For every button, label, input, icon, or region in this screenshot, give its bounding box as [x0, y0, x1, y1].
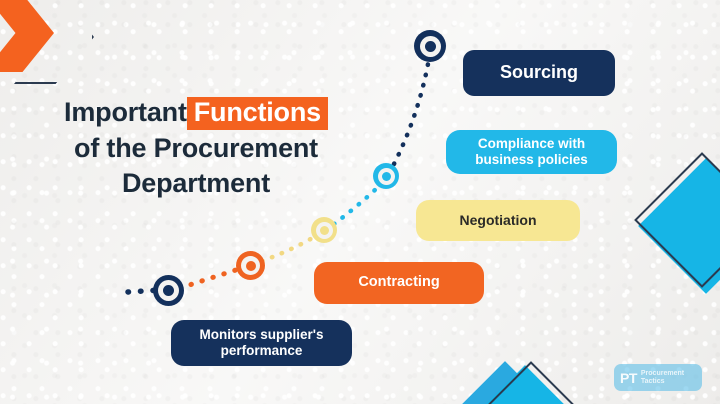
path-segment-navy-rise — [394, 64, 428, 164]
step-label-text: Negotiation — [460, 212, 537, 229]
marker-sourcing — [414, 30, 446, 62]
brand-logo: PT Procurement Tactics — [614, 364, 702, 391]
marker-negotiation — [311, 217, 337, 243]
path-segment-yellow — [262, 237, 314, 261]
page-title: ImportantFunctions of the Procurement De… — [36, 95, 356, 202]
logo-word-2: Tactics — [641, 378, 684, 385]
marker-contracting — [236, 251, 265, 280]
logo-word-1: Procurement — [641, 370, 684, 377]
step-label-line-2: performance — [200, 343, 324, 359]
marker-compliance — [373, 163, 399, 189]
step-label-text: Compliance with business policies — [475, 136, 588, 168]
step-label-line-1: Monitors supplier's — [200, 327, 324, 343]
marker-ring-core — [320, 226, 329, 235]
marker-monitors-supplier-performance — [153, 275, 184, 306]
step-label-text: Monitors supplier's performance — [200, 327, 324, 359]
step-label-text: Sourcing — [500, 62, 578, 84]
step-label-text: Contracting — [358, 274, 439, 291]
title-line-2: of the Procurement — [36, 131, 356, 167]
step-label-compliance[interactable]: Compliance with business policies — [446, 130, 617, 174]
title-highlight: Functions — [187, 97, 328, 130]
step-label-line-2: business policies — [475, 152, 588, 168]
marker-ring-core — [163, 285, 174, 296]
title-line-3: Department — [36, 166, 356, 202]
logo-wordmark: Procurement Tactics — [641, 370, 684, 385]
step-label-line-1: Compliance with — [475, 136, 588, 152]
title-line-1: ImportantFunctions — [36, 95, 356, 131]
step-label-negotiation[interactable]: Negotiation — [416, 200, 580, 241]
marker-ring-core — [382, 172, 391, 181]
step-label-contracting[interactable]: Contracting — [314, 262, 484, 304]
logo-mark-text: PT — [620, 370, 637, 386]
step-label-sourcing[interactable]: Sourcing — [463, 50, 615, 96]
marker-ring-core — [425, 41, 436, 52]
path-segment-orange — [180, 268, 242, 288]
step-label-monitors-supplier-performance[interactable]: Monitors supplier's performance — [171, 320, 352, 366]
infographic-canvas: ImportantFunctions of the Procurement De… — [0, 0, 720, 404]
title-prefix: Important — [64, 97, 187, 127]
marker-ring-core — [246, 261, 256, 271]
